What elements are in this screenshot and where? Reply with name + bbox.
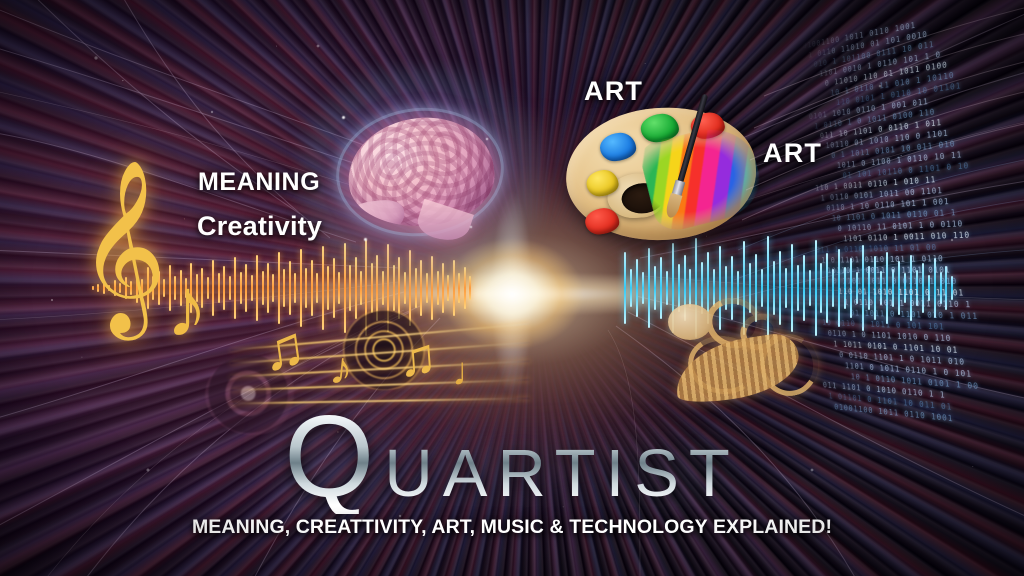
neuron-spark [342, 116, 345, 119]
music-note-icon: ♫ [258, 317, 309, 380]
music-note-icon: ♪ [166, 265, 208, 349]
waveform-bar [624, 252, 626, 323]
keyword-art-secondary: ART [763, 138, 822, 169]
waveform-bar [278, 252, 280, 325]
waveform-bar [251, 275, 253, 301]
neuron-spark [470, 226, 472, 228]
waveform-bar [630, 269, 632, 308]
waveform-bar [229, 276, 231, 300]
waveform-bar [636, 259, 638, 317]
waveform-bar [283, 269, 285, 307]
waveform-bar [262, 271, 264, 306]
waveform-bar [234, 257, 236, 318]
waveform-bar [642, 272, 644, 303]
waveform-bar [212, 260, 214, 315]
waveform-bar [218, 273, 220, 302]
neuron-spark [486, 138, 488, 140]
treble-clef-icon: 𝄞 [78, 170, 167, 320]
neuron-spark [364, 238, 367, 241]
binary-code-icon: 01001100 1011 0110 10011 0110 11010 01 1… [803, 2, 1024, 433]
music-note-icon: ♫ [396, 331, 439, 386]
music-note-icon: ♪ [328, 344, 356, 392]
waveform-bar [256, 255, 258, 322]
keyword-art-primary: ART [584, 76, 643, 107]
waveform-bar [272, 274, 274, 302]
brand-subtitle: MEANING, CREATTIVITY, ART, MUSIC & TECHN… [0, 516, 1024, 539]
brain-icon [330, 98, 510, 258]
waveform-bar [267, 263, 269, 314]
waveform-bar [223, 266, 225, 310]
keyword-creativity: Creativity [197, 211, 322, 242]
promo-graphic: 𝄞 ♪ ♫ ♪ ♫ ♩ [0, 0, 1024, 576]
waveform-bar [240, 272, 242, 304]
music-note-icon: ♩ [452, 352, 492, 392]
brand-title: Quartist [0, 398, 1024, 514]
shell-pearl [668, 304, 712, 340]
brand-title-rest: uartist [384, 410, 739, 517]
keyword-meaning: MEANING [198, 168, 320, 197]
code-line: 10110 1 0011 0 1101 0101 [815, 264, 1024, 276]
shell-body [670, 331, 804, 408]
brand-title-initial: Q [284, 391, 384, 521]
waveform-bar [245, 264, 247, 312]
waveform-bar [289, 261, 291, 315]
